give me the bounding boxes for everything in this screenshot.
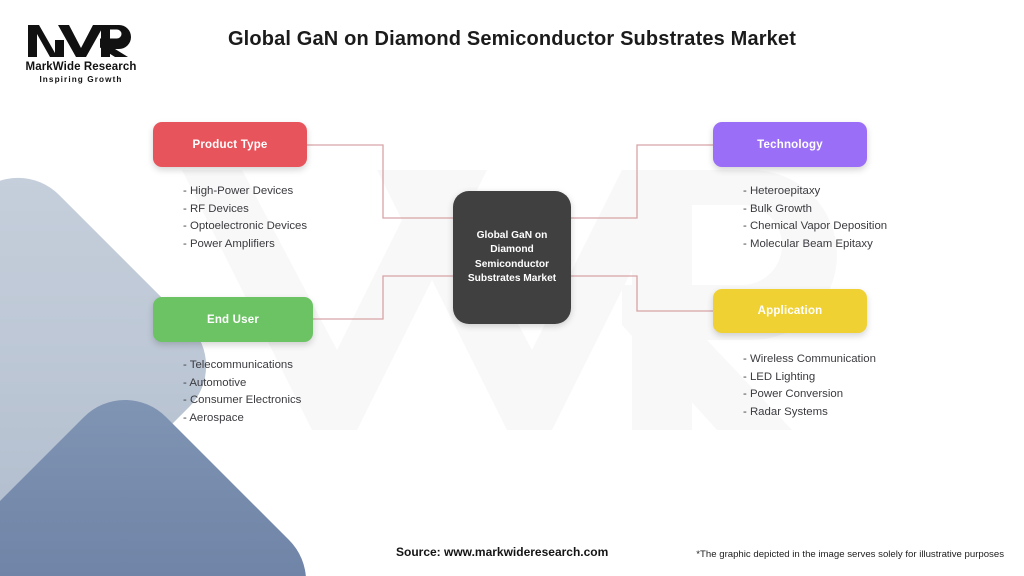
- center-node-label: Global GaN on Diamond Semiconductor Subs…: [453, 229, 571, 287]
- branch-technology: Technology - Heteroepitaxy - Bulk Growth…: [713, 122, 887, 253]
- disclaimer-note: *The graphic depicted in the image serve…: [696, 549, 1004, 560]
- branch-application: Application - Wireless Communication - L…: [713, 289, 876, 421]
- list-item: - Chemical Vapor Deposition: [743, 218, 887, 236]
- list-item: - Power Conversion: [743, 386, 876, 404]
- list-item: - Power Amplifiers: [183, 236, 307, 254]
- center-node: Global GaN on Diamond Semiconductor Subs…: [453, 191, 571, 324]
- list-item: - RF Devices: [183, 201, 307, 219]
- list-item: - Aerospace: [183, 410, 313, 428]
- list-item: - High-Power Devices: [183, 183, 307, 201]
- branch-header-product-type[interactable]: Product Type: [153, 122, 307, 167]
- list-item: - LED Lighting: [743, 369, 876, 387]
- list-item: - Consumer Electronics: [183, 392, 313, 410]
- logo-company-name: MarkWide Research: [18, 61, 144, 74]
- logo-tagline: Inspiring Growth: [18, 74, 144, 85]
- branch-list-product-type: - High-Power Devices - RF Devices - Opto…: [183, 183, 307, 253]
- branch-product-type: Product Type - High-Power Devices - RF D…: [153, 122, 307, 253]
- branch-list-end-user: - Telecommunications - Automotive - Cons…: [183, 357, 313, 427]
- branch-list-technology: - Heteroepitaxy - Bulk Growth - Chemical…: [743, 183, 887, 253]
- branch-title-application: Application: [758, 305, 823, 317]
- page-title: Global GaN on Diamond Semiconductor Subs…: [0, 28, 1024, 51]
- branch-title-technology: Technology: [757, 139, 823, 151]
- branch-list-application: - Wireless Communication - LED Lighting …: [743, 351, 876, 421]
- branch-header-end-user[interactable]: End User: [153, 297, 313, 342]
- infographic-canvas: MarkWide Research Inspiring Growth Globa…: [0, 0, 1024, 576]
- list-item: - Wireless Communication: [743, 351, 876, 369]
- list-item: - Automotive: [183, 375, 313, 393]
- list-item: - Molecular Beam Epitaxy: [743, 236, 887, 254]
- list-item: - Bulk Growth: [743, 201, 887, 219]
- list-item: - Telecommunications: [183, 357, 313, 375]
- source-note: Source: www.markwideresearch.com: [396, 545, 608, 559]
- branch-title-product-type: Product Type: [192, 139, 267, 151]
- branch-title-end-user: End User: [207, 314, 259, 326]
- branch-end-user: End User - Telecommunications - Automoti…: [153, 297, 313, 427]
- list-item: - Radar Systems: [743, 404, 876, 422]
- list-item: - Heteroepitaxy: [743, 183, 887, 201]
- branch-header-application[interactable]: Application: [713, 289, 867, 333]
- list-item: - Optoelectronic Devices: [183, 218, 307, 236]
- branch-header-technology[interactable]: Technology: [713, 122, 867, 167]
